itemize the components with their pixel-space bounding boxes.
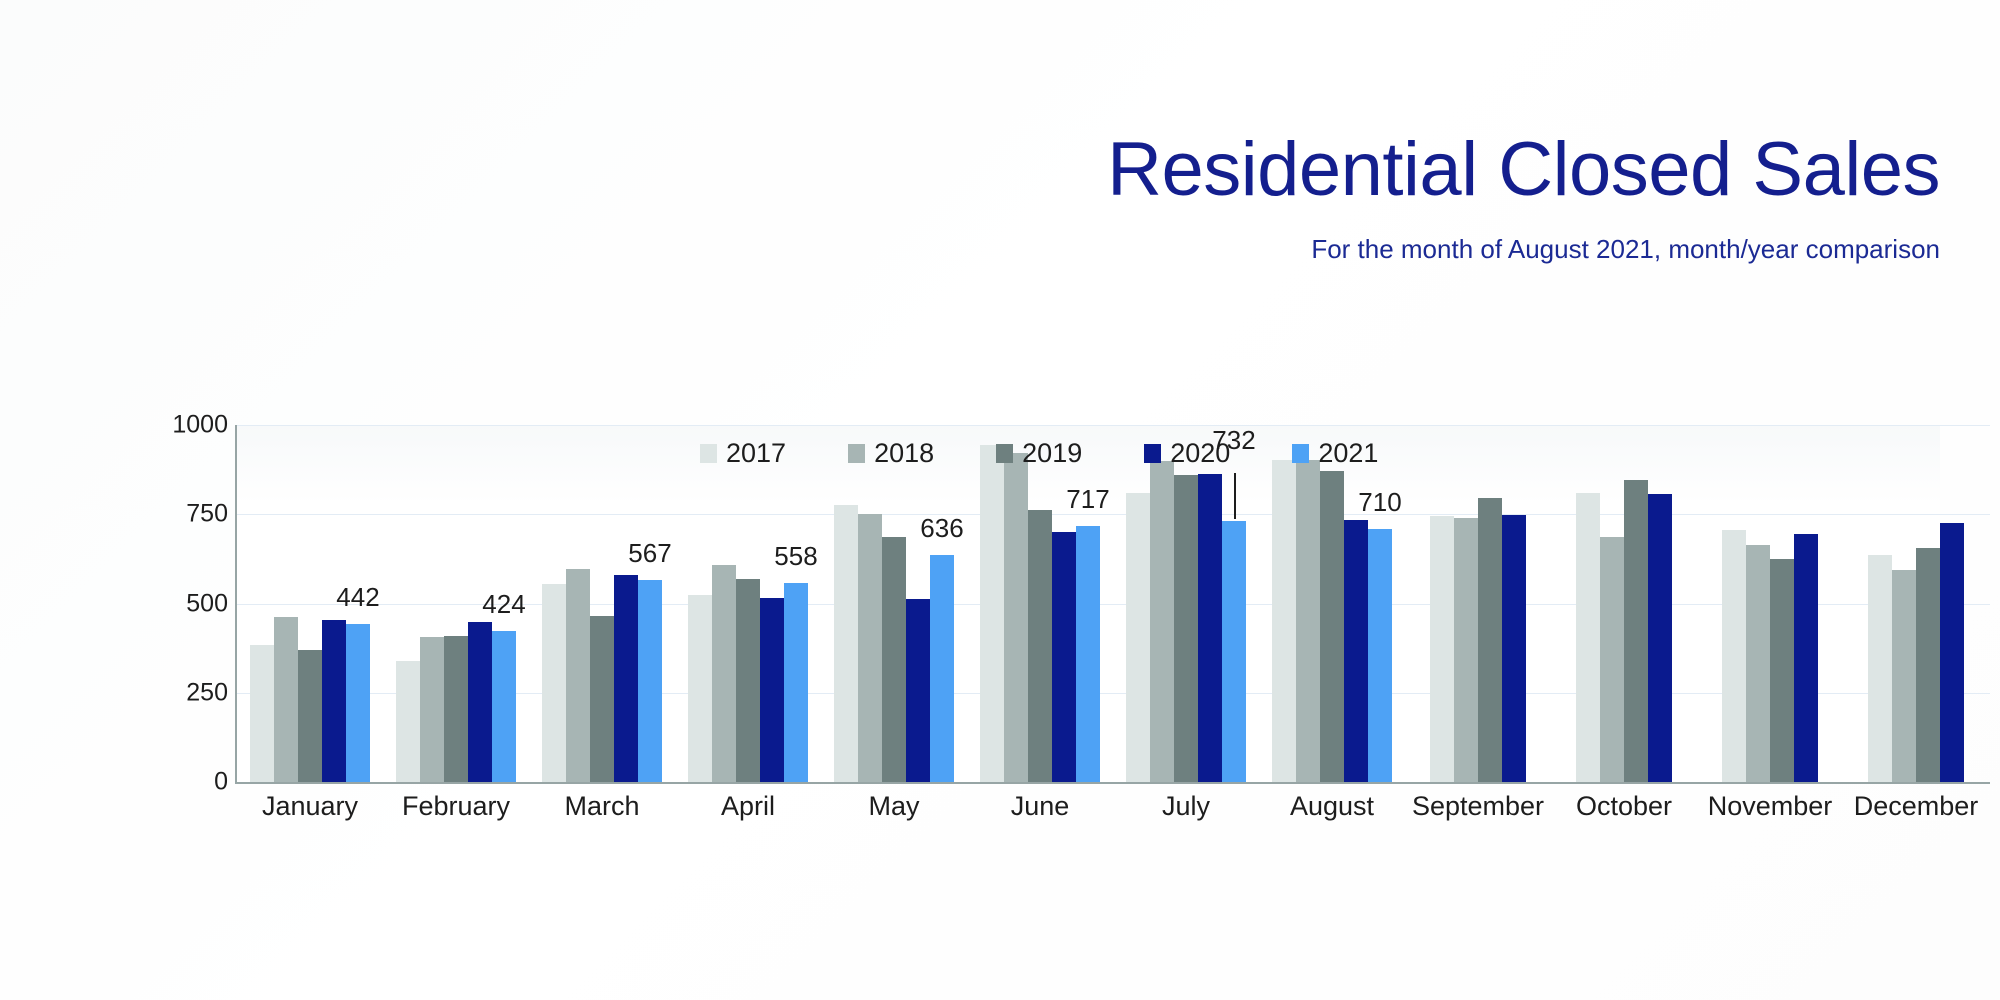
bar-2018 (858, 514, 882, 782)
bar-group: 442 (237, 425, 383, 782)
bar-group: 710 (1259, 425, 1405, 782)
x-tick-label: April (675, 791, 821, 822)
bar-2017 (1576, 493, 1600, 782)
bar-group: 558 (675, 425, 821, 782)
bar-2017 (1722, 530, 1746, 782)
bar-2020 (906, 599, 930, 782)
legend-label: 2018 (874, 440, 934, 467)
bar-2017 (688, 595, 712, 782)
data-label: 636 (920, 513, 963, 544)
bar-group (1551, 425, 1697, 782)
bar-2020 (614, 575, 638, 782)
y-tick-label: 0 (214, 768, 228, 797)
bar-set (1868, 425, 1964, 782)
bar-2020 (468, 622, 492, 782)
x-tick-label: August (1259, 791, 1405, 822)
bar-2021 (1222, 521, 1246, 782)
bar-2020 (1648, 494, 1672, 782)
bar-2018 (1150, 461, 1174, 782)
legend-swatch-icon (996, 444, 1013, 463)
bar-2021 (1368, 529, 1392, 782)
chart-header: Residential Closed Sales For the month o… (0, 128, 1940, 264)
bar-2017 (1272, 460, 1296, 782)
bar-2019 (444, 636, 468, 782)
y-tick-label: 250 (186, 678, 228, 707)
data-label-leader-line (1234, 473, 1236, 519)
bar-group: 636 (821, 425, 967, 782)
bar-set (1126, 425, 1246, 782)
bar-2018 (1454, 518, 1478, 782)
bar-2017 (834, 505, 858, 782)
bar-2020 (1344, 520, 1368, 782)
x-tick-label: September (1405, 791, 1551, 822)
bar-2021 (1076, 526, 1100, 782)
legend-item-2019[interactable]: 2019 (996, 440, 1082, 467)
bar-2018 (1746, 545, 1770, 782)
x-tick-label: November (1697, 791, 1843, 822)
bar-set (688, 425, 808, 782)
data-label: 558 (774, 541, 817, 572)
bar-2021 (930, 555, 954, 782)
bar-2017 (1126, 493, 1150, 782)
legend-item-2017[interactable]: 2017 (700, 440, 786, 467)
legend-swatch-icon (1144, 444, 1161, 463)
bar-2018 (712, 565, 736, 782)
y-tick-label: 1000 (172, 411, 228, 440)
x-tick-label: July (1113, 791, 1259, 822)
legend-swatch-icon (1292, 444, 1309, 463)
bar-set (980, 425, 1100, 782)
bar-2020 (760, 598, 784, 782)
page-subtitle: For the month of August 2021, month/year… (0, 234, 1940, 264)
bar-group (1697, 425, 1843, 782)
data-label: 567 (628, 538, 671, 569)
bar-2017 (542, 584, 566, 782)
bar-groups: 442424567558636717732710 (237, 425, 1989, 782)
bar-group (1843, 425, 1989, 782)
bar-group: 717 (967, 425, 1113, 782)
bar-set (542, 425, 662, 782)
x-tick-label: January (237, 791, 383, 822)
bar-2018 (1004, 453, 1028, 782)
bar-set (1272, 425, 1392, 782)
data-label: 710 (1358, 487, 1401, 518)
bar-2019 (882, 537, 906, 782)
bar-2021 (784, 583, 808, 782)
bar-2018 (1600, 537, 1624, 782)
bar-group: 424 (383, 425, 529, 782)
data-label: 717 (1066, 484, 1109, 515)
bar-2020 (322, 620, 346, 782)
y-axis-labels: 02505007501000 (150, 425, 228, 783)
bar-2020 (1794, 534, 1818, 782)
data-label: 424 (482, 589, 525, 620)
bar-2020 (1502, 515, 1526, 782)
bar-set (1430, 425, 1526, 782)
bar-2020 (1940, 523, 1964, 782)
bar-group (1405, 425, 1551, 782)
bar-2019 (1028, 510, 1052, 782)
bar-2018 (1296, 460, 1320, 782)
bar-2017 (1430, 516, 1454, 782)
y-tick-label: 750 (186, 500, 228, 529)
x-tick-label: October (1551, 791, 1697, 822)
x-tick-label: December (1843, 791, 1989, 822)
legend-label: 2017 (726, 440, 786, 467)
x-tick-label: March (529, 791, 675, 822)
y-tick-label: 500 (186, 589, 228, 618)
bar-2021 (638, 580, 662, 782)
legend-item-2018[interactable]: 2018 (848, 440, 934, 467)
page-title: Residential Closed Sales (0, 128, 1940, 212)
bar-2019 (1916, 548, 1940, 782)
bar-2018 (274, 617, 298, 782)
bar-2017 (980, 445, 1004, 782)
bar-group: 567 (529, 425, 675, 782)
bar-set (1722, 425, 1818, 782)
bar-2017 (396, 661, 420, 782)
bar-set (1576, 425, 1672, 782)
bar-2019 (1624, 480, 1648, 782)
bar-2019 (1478, 498, 1502, 782)
bar-2018 (566, 569, 590, 782)
bar-2021 (346, 624, 370, 782)
x-tick-label: February (383, 791, 529, 822)
x-axis-line (235, 782, 1990, 784)
bar-2018 (420, 637, 444, 782)
bar-2019 (736, 579, 760, 782)
legend-label: 2020 (1170, 440, 1230, 467)
legend-label: 2021 (1318, 440, 1378, 467)
bar-2018 (1892, 570, 1916, 782)
bar-2019 (298, 650, 322, 782)
bar-2019 (1174, 475, 1198, 782)
bar-2019 (1770, 559, 1794, 782)
bar-group: 732 (1113, 425, 1259, 782)
chart-legend: 20172018201920202021 (700, 440, 1378, 467)
x-tick-label: June (967, 791, 1113, 822)
bar-2021 (492, 631, 516, 782)
bar-2017 (1868, 555, 1892, 782)
legend-item-2020[interactable]: 2020 (1144, 440, 1230, 467)
legend-swatch-icon (848, 444, 865, 463)
bar-2017 (250, 645, 274, 782)
bar-2019 (1320, 471, 1344, 782)
x-axis-labels: JanuaryFebruaryMarchAprilMayJuneJulyAugu… (237, 791, 1989, 822)
bar-2020 (1198, 474, 1222, 782)
bar-2019 (590, 616, 614, 782)
legend-swatch-icon (700, 444, 717, 463)
bar-2020 (1052, 532, 1076, 782)
legend-item-2021[interactable]: 2021 (1292, 440, 1378, 467)
x-tick-label: May (821, 791, 967, 822)
legend-label: 2019 (1022, 440, 1082, 467)
bar-set (834, 425, 954, 782)
bar-chart: 02505007501000 442424567558636717732710 … (150, 425, 1940, 845)
data-label: 442 (336, 582, 379, 613)
